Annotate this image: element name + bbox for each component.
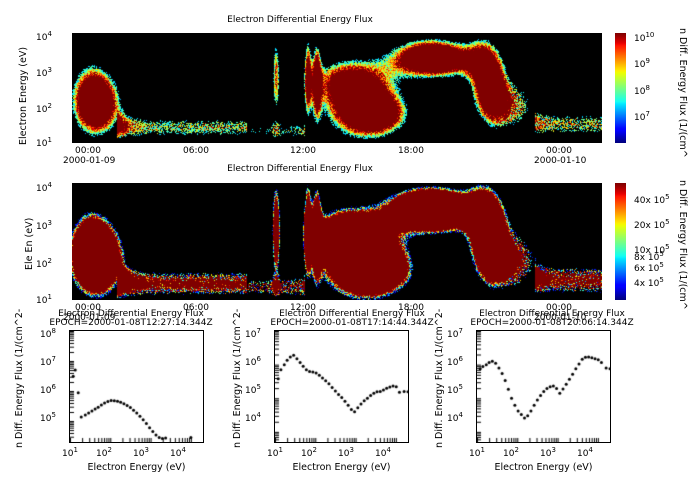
top-panel-title: Electron Differential Energy Flux — [0, 15, 600, 25]
top-cbar-tick-1: 108 — [634, 84, 650, 97]
spectrum-middle-canvas — [275, 331, 408, 442]
spectrum-right-xlabel: Electron Energy (eV) — [476, 462, 611, 473]
middle-spectrogram-canvas — [72, 183, 602, 300]
spectrum-left-canvas — [70, 331, 203, 442]
top-xtick-4: 00:00 — [546, 146, 572, 156]
top-spectrogram-plot[interactable] — [72, 33, 602, 143]
middle-cbar-label-wrap: n Diff. Energy Flux (1/(cm^ — [688, 180, 697, 191]
middle-cbar-tick-40: 40x 105 — [634, 193, 670, 206]
spectrum-middle-ytick-6: 106 — [245, 355, 261, 368]
top-colorbar[interactable] — [615, 33, 626, 143]
spectrum-left-ytick-8: 108 — [40, 327, 56, 340]
spectrum-left-xtick-1: 101 — [62, 446, 78, 459]
spectrum-right-ytick-6: 106 — [447, 355, 463, 368]
top-cbar-tick-2: 109 — [634, 57, 650, 70]
spectrum-left-ytick-6: 106 — [40, 383, 56, 396]
top-panel-ylabel: Electron Energy (eV) — [18, 47, 29, 145]
top-ytick-4: 104 — [36, 30, 52, 43]
spectrum-right-ytick-5: 105 — [447, 383, 463, 396]
spectrum-middle-xtick-3: 103 — [338, 446, 354, 459]
spectrum-left-xtick-4: 104 — [170, 446, 186, 459]
top-ytick-2: 102 — [36, 102, 52, 115]
spectrum-right-xtick-4: 104 — [577, 446, 593, 459]
spectrum-right-plot[interactable] — [476, 330, 611, 443]
spectrum-middle-ylabel: n Diff. Energy Flux (1/(cm^2- — [232, 309, 243, 448]
spectrum-left-ylabel: n Diff. Energy Flux (1/(cm^2- — [14, 309, 25, 448]
top-xtick-2: 12:00 — [290, 146, 316, 156]
spectrum-left-xtick-3: 103 — [133, 446, 149, 459]
top-xtick-1: 06:00 — [183, 146, 209, 156]
middle-panel-ylabel: Ele En (eV) — [24, 218, 35, 270]
middle-cbar-tick-20: 20x 105 — [634, 218, 670, 231]
spectrum-middle-ytick-7: 107 — [245, 327, 261, 340]
spectrum-right-xtick-2: 102 — [503, 446, 519, 459]
spectrum-right-subtitle: EPOCH=2000-01-08T20:06:14.344Z — [452, 318, 652, 328]
middle-ytick-4: 104 — [36, 181, 52, 194]
top-colorbar-label: n Diff. Energy Flux (1/(cm^ — [677, 28, 688, 158]
spectrum-middle-xlabel: Electron Energy (eV) — [274, 462, 409, 473]
middle-ytick-3: 103 — [36, 219, 52, 232]
top-ytick-1: 101 — [36, 136, 52, 149]
top-spectrogram-canvas — [72, 33, 602, 143]
middle-colorbar-label: n Diff. Energy Flux (1/(cm^ — [677, 180, 688, 310]
spectrum-middle-xtick-4: 104 — [375, 446, 391, 459]
spectrum-middle-ytick-5: 105 — [245, 383, 261, 396]
spectrum-left-xtick-2: 102 — [96, 446, 112, 459]
top-panel-ylabel-wrap: Electron Energy (eV) — [18, 145, 116, 156]
middle-colorbar-canvas — [615, 183, 626, 300]
top-cbar-tick-3: 1010 — [634, 31, 654, 44]
spectrum-left-ytick-7: 107 — [40, 355, 56, 368]
top-cbar-tick-0: 107 — [634, 110, 650, 123]
spectrum-left-xlabel: Electron Energy (eV) — [69, 462, 204, 473]
spectrum-middle-plot[interactable] — [274, 330, 409, 443]
middle-spectrogram-plot[interactable] — [72, 183, 602, 300]
spectrum-middle-ytick-4: 104 — [245, 411, 261, 424]
spectrum-middle-subtitle: EPOCH=2000-01-08T17:14:44.344Z — [252, 318, 452, 328]
middle-cbar-tick-4: 4x 105 — [634, 276, 664, 289]
middle-colorbar[interactable] — [615, 183, 626, 300]
middle-ytick-1: 101 — [36, 293, 52, 306]
spectrum-left-plot[interactable] — [69, 330, 204, 443]
top-colorbar-canvas — [615, 33, 626, 143]
spectrum-right-ytick-7: 107 — [447, 327, 463, 340]
spectrum-middle-xtick-1: 101 — [267, 446, 283, 459]
spectrum-left-subtitle: EPOCH=2000-01-08T12:27:14.344Z — [36, 318, 226, 328]
middle-ytick-2: 102 — [36, 257, 52, 270]
spectrum-middle-xtick-2: 102 — [301, 446, 317, 459]
middle-panel-ylabel-wrap: Ele En (eV) — [24, 270, 76, 281]
spectrum-right-ylabel: n Diff. Energy Flux (1/(cm^2- — [434, 309, 445, 448]
spectrum-right-xtick-3: 103 — [540, 446, 556, 459]
middle-panel-title: Electron Differential Energy Flux — [0, 164, 600, 174]
top-cbar-label-wrap: n Diff. Energy Flux (1/(cm^ — [688, 28, 697, 39]
middle-cbar-tick-6: 6x 105 — [634, 261, 664, 274]
spectrum-left-ytick-5: 105 — [40, 411, 56, 424]
spectrum-right-ytick-4: 104 — [447, 411, 463, 424]
top-xtick-3: 18:00 — [398, 146, 424, 156]
spectrum-right-canvas — [477, 331, 610, 442]
top-ytick-3: 103 — [36, 66, 52, 79]
top-xtick-0: 00:00 — [75, 146, 101, 156]
spectrum-right-xtick-1: 101 — [469, 446, 485, 459]
